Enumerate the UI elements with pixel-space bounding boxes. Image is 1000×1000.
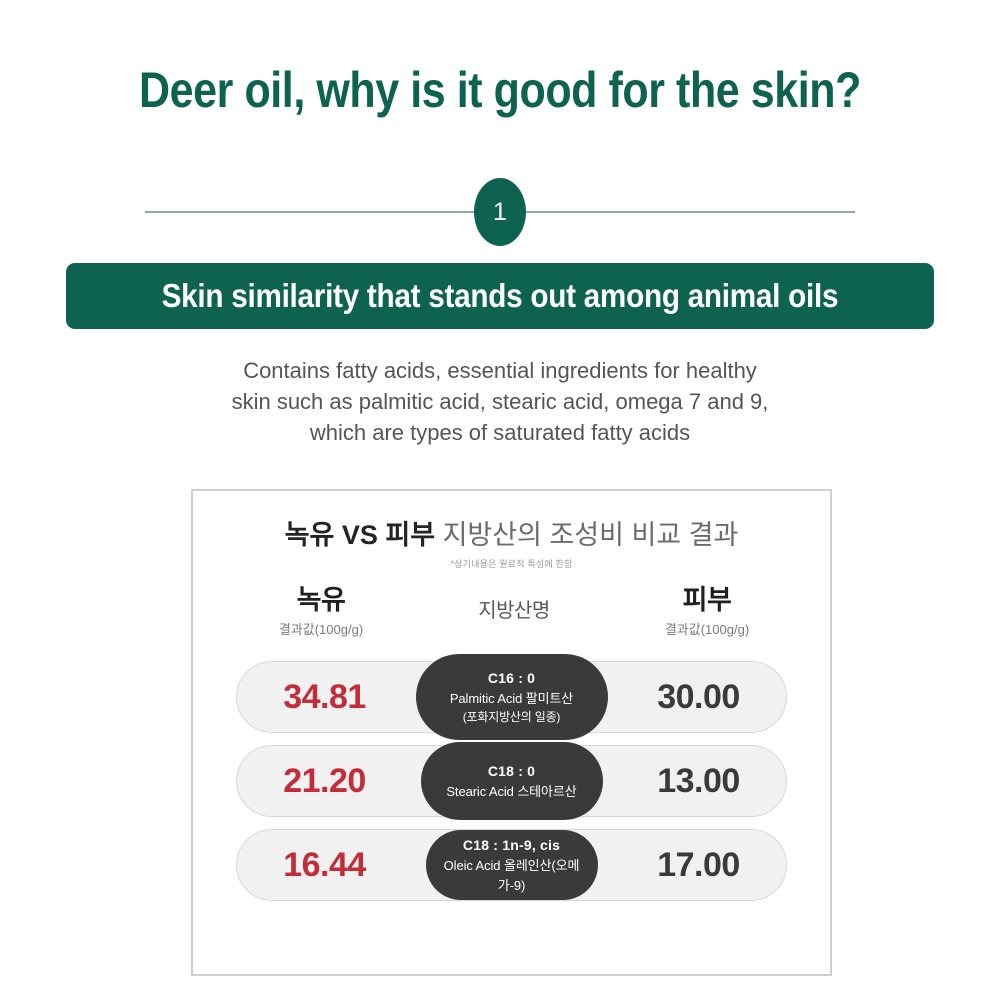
fatty-acid-name: Palmitic Acid 팔미트산 bbox=[450, 689, 573, 709]
table-row: 21.20 C18 : 0 Stearic Acid 스테아르산 13.00 bbox=[236, 745, 787, 817]
fatty-acid-pill: C18 : 1n-9, cis Oleic Acid 올레인산(오메가-9) bbox=[426, 830, 598, 900]
column-header-deer-label: 녹유 bbox=[231, 586, 411, 616]
fatty-acid-code: C16 : 0 bbox=[488, 668, 535, 689]
column-header-skin-label: 피부 bbox=[617, 586, 797, 616]
table-title-rest: 지방산의 조성비 비교 결과 bbox=[435, 520, 738, 550]
table-title: 녹유 VS 피부 지방산의 조성비 비교 결과 bbox=[193, 513, 830, 552]
description-line-1: Contains fatty acids, essential ingredie… bbox=[0, 355, 1000, 386]
fatty-acid-code: C18 : 1n-9, cis bbox=[463, 835, 560, 856]
deer-value: 34.81 bbox=[237, 678, 412, 717]
skin-value: 30.00 bbox=[611, 678, 786, 717]
comparison-table-card: 녹유 VS 피부 지방산의 조성비 비교 결과 *상기내용은 원료적 특성에 한… bbox=[191, 489, 832, 976]
fatty-acid-note: (포화지방산의 일종) bbox=[463, 708, 560, 726]
description-line-3: which are types of saturated fatty acids bbox=[0, 417, 1000, 448]
fatty-acid-name: Oleic Acid 올레인산(오메가-9) bbox=[434, 856, 590, 895]
skin-value: 13.00 bbox=[611, 762, 786, 801]
fatty-acid-pill: C16 : 0 Palmitic Acid 팔미트산 (포화지방산의 일종) bbox=[416, 654, 608, 740]
fatty-acid-pill: C18 : 0 Stearic Acid 스테아르산 bbox=[421, 742, 603, 820]
table-row: 34.81 C16 : 0 Palmitic Acid 팔미트산 (포화지방산의… bbox=[236, 661, 787, 733]
section-description: Contains fatty acids, essential ingredie… bbox=[0, 355, 1000, 449]
section-banner-label: Skin similarity that stands out among an… bbox=[162, 277, 839, 315]
column-header-deer: 녹유 결과값(100g/g) bbox=[231, 586, 411, 638]
column-header-skin-unit: 결과값(100g/g) bbox=[617, 619, 797, 638]
table-column-headers: 녹유 결과값(100g/g) 지방산명 피부 결과값(100g/g) bbox=[193, 586, 830, 648]
column-header-deer-unit: 결과값(100g/g) bbox=[231, 619, 411, 638]
fatty-acid-name: Stearic Acid 스테아르산 bbox=[446, 782, 576, 802]
table-subtitle: *상기내용은 원료적 특성에 한함 bbox=[193, 557, 830, 570]
section-banner: Skin similarity that stands out among an… bbox=[66, 263, 934, 329]
deer-value: 21.20 bbox=[237, 762, 412, 801]
table-row: 16.44 C18 : 1n-9, cis Oleic Acid 올레인산(오메… bbox=[236, 829, 787, 901]
column-header-skin: 피부 결과값(100g/g) bbox=[617, 586, 797, 638]
table-title-highlight: 녹유 VS 피부 bbox=[285, 520, 435, 550]
deer-value: 16.44 bbox=[237, 846, 412, 885]
table-rows: 34.81 C16 : 0 Palmitic Acid 팔미트산 (포화지방산의… bbox=[193, 661, 830, 913]
step-number-badge: 1 bbox=[474, 178, 526, 246]
skin-value: 17.00 bbox=[611, 846, 786, 885]
fatty-acid-code: C18 : 0 bbox=[488, 761, 535, 782]
column-header-fatty-acid: 지방산명 bbox=[421, 600, 607, 622]
description-line-2: skin such as palmitic acid, stearic acid… bbox=[0, 386, 1000, 417]
column-header-fatty-acid-label: 지방산명 bbox=[421, 600, 607, 622]
page-title: Deer oil, why is it good for the skin? bbox=[70, 60, 930, 120]
step-divider: 1 bbox=[145, 178, 855, 246]
